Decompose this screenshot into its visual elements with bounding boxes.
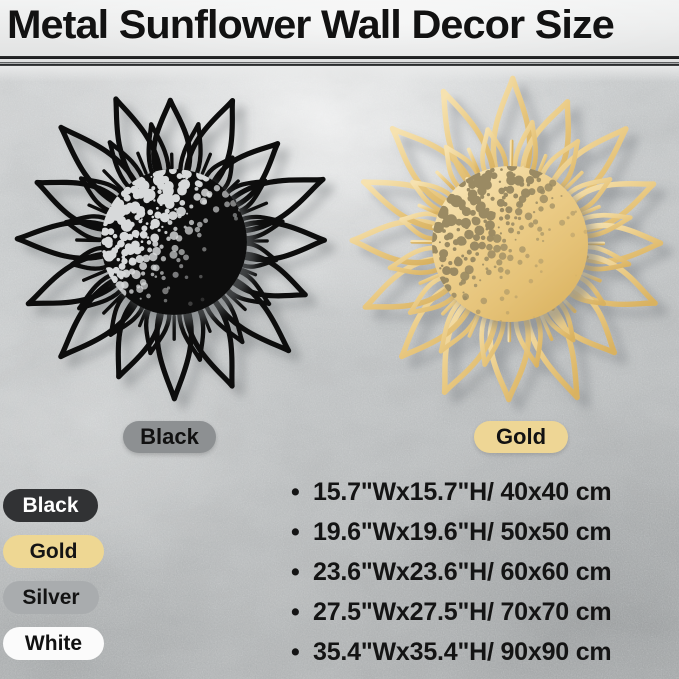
list-item: • 15.7"Wx15.7"H/ 40x40 cm [291,477,679,517]
color-option-black[interactable]: Black [3,489,98,522]
size-options-list: • 15.7"Wx15.7"H/ 40x40 cm • 19.6"Wx19.6"… [291,477,679,677]
caption-gold: Gold [474,421,568,453]
color-option-silver[interactable]: Silver [3,581,99,614]
color-option-white[interactable]: White [3,627,104,660]
bullet-icon: • [291,637,313,667]
size-label: 35.4"Wx35.4"H/ 90x90 cm [313,637,611,667]
size-label: 23.6"Wx23.6"H/ 60x60 cm [313,557,611,587]
list-item: • 23.6"Wx23.6"H/ 60x60 cm [291,557,679,597]
product-image-black [14,74,334,404]
page-title: Metal Sunflower Wall Decor Size [7,3,614,48]
sunflower-outline-icon [345,72,675,408]
product-infographic: Metal Sunflower Wall Decor Size [0,0,679,679]
bullet-icon: • [291,557,313,587]
list-item: • 27.5"Wx27.5"H/ 70x70 cm [291,597,679,637]
caption-black: Black [123,421,216,453]
list-item: • 35.4"Wx35.4"H/ 90x90 cm [291,637,679,677]
sunflower-outline-icon [14,74,334,404]
color-options-list: Black Gold Silver White [3,489,123,673]
product-image-gold [345,72,675,408]
bullet-icon: • [291,597,313,627]
size-label: 15.7"Wx15.7"H/ 40x40 cm [313,477,611,507]
bullet-icon: • [291,517,313,547]
bullet-icon: • [291,477,313,507]
size-label: 27.5"Wx27.5"H/ 70x70 cm [313,597,611,627]
color-option-gold[interactable]: Gold [3,535,104,568]
list-item: • 19.6"Wx19.6"H/ 50x50 cm [291,517,679,557]
size-label: 19.6"Wx19.6"H/ 50x50 cm [313,517,611,547]
